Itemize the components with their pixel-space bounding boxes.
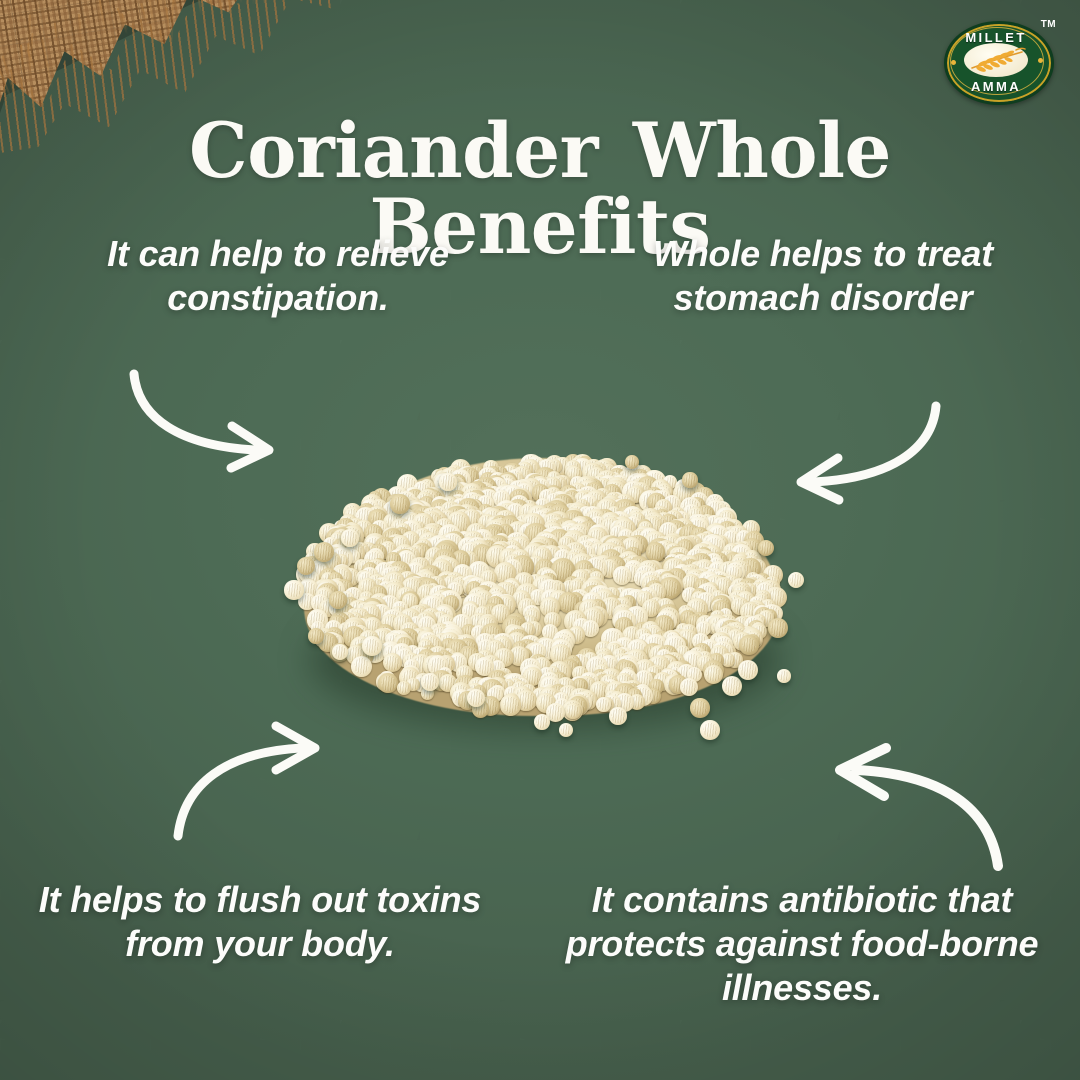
coriander-seeds-pile — [280, 440, 820, 750]
coriander-seed — [700, 720, 719, 739]
logo-text-top: MILLET — [940, 30, 1052, 45]
coriander-seed — [383, 653, 402, 672]
coriander-seed — [690, 698, 709, 717]
coriander-seed — [646, 542, 665, 561]
coriander-seed — [777, 669, 790, 682]
coriander-seed — [738, 660, 758, 680]
coriander-seed — [390, 494, 409, 513]
benefit-text-bottom-right: It contains antibiotic that protects aga… — [528, 878, 1076, 1010]
coriander-seed — [722, 676, 743, 697]
coriander-seed — [308, 628, 323, 643]
seed-cluster — [280, 440, 820, 750]
coriander-seed — [704, 665, 723, 684]
coriander-seed — [439, 473, 456, 490]
coriander-seed — [284, 580, 303, 599]
coriander-seed — [613, 566, 632, 585]
coriander-seed — [625, 455, 639, 469]
coriander-seed — [682, 472, 697, 487]
coriander-seed — [341, 529, 359, 547]
coriander-seed — [680, 678, 698, 696]
infographic-poster: MILLET AMMA TM Coriander Whole Benefits … — [0, 0, 1080, 1080]
coriander-seed — [565, 703, 581, 719]
wheat-stalk-icon — [964, 43, 1028, 77]
logo-text-bottom: AMMA — [940, 79, 1052, 94]
coriander-seed — [362, 636, 382, 656]
coriander-seed — [351, 656, 372, 677]
benefit-text-bottom-left: It helps to flush out toxins from your b… — [10, 878, 510, 966]
coriander-seed — [378, 673, 398, 693]
benefit-text-top-left: It can help to relieve constipation. — [28, 232, 528, 320]
coriander-seed — [397, 681, 411, 695]
benefit-text-top-right: Whole helps to treat stomach disorder — [584, 232, 1062, 320]
trademark-symbol: TM — [1041, 19, 1056, 30]
brand-logo: MILLET AMMA TM — [940, 13, 1058, 105]
logo-dot-left — [951, 60, 956, 65]
coriander-seed — [788, 572, 805, 589]
coriander-seed — [739, 635, 758, 654]
coriander-seed — [534, 714, 550, 730]
coriander-seed — [609, 707, 626, 724]
coriander-seed — [768, 618, 788, 638]
logo-dot-right — [1038, 58, 1043, 63]
coriander-seed — [559, 723, 573, 737]
coriander-seed — [758, 540, 774, 556]
coriander-seed — [596, 697, 611, 712]
coriander-seed — [500, 694, 521, 715]
